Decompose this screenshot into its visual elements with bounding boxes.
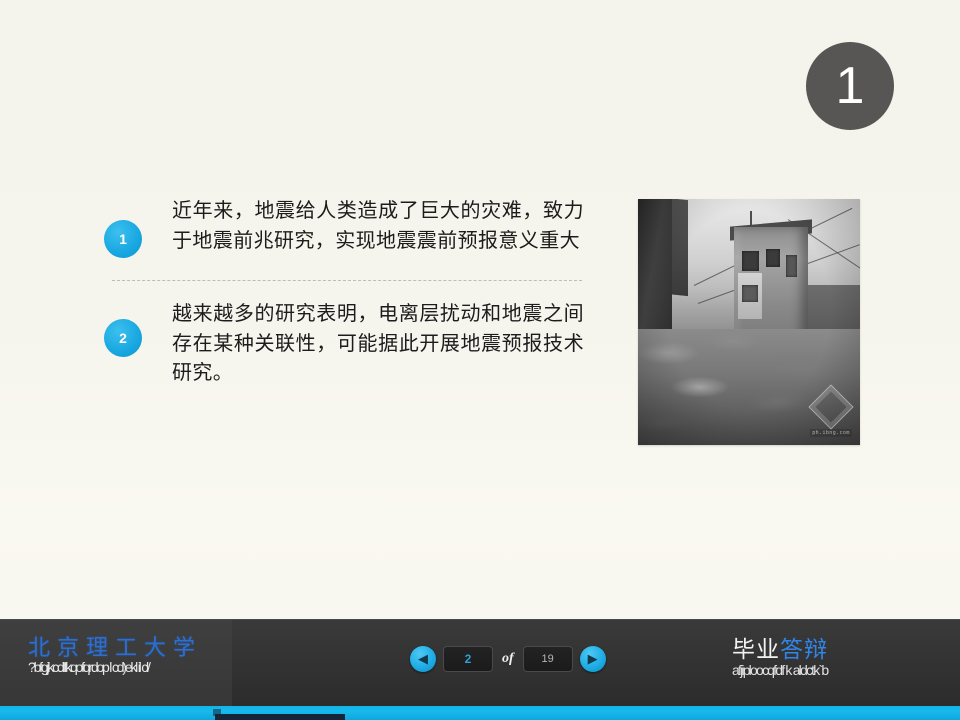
university-name-cn: 北京理工大学 (28, 630, 238, 662)
university-name-en: ?bfgjkcdlfkqofqrdop l cd)ekl il cl/ (28, 659, 238, 675)
current-slide-box[interactable]: 2 (443, 646, 493, 672)
photo-scene: ph.ibng.com (638, 199, 860, 445)
watermark-diamond-icon (808, 384, 853, 429)
event-title: 毕业答辩 afjiploocqfdf k aldctk`b (732, 630, 892, 678)
photo-watermark: ph.ibng.com (808, 389, 854, 437)
chapter-number-badge: 1 (806, 42, 894, 130)
watermark-text: ph.ibng.com (810, 429, 852, 437)
total-slides-box: 19 (523, 646, 573, 672)
total-slide-number: 19 (542, 653, 554, 665)
bullet-text-2: 越来越多的研究表明，电离层扰动和地震之间存在某种关联性，可能据此开展地震预报技术… (172, 299, 584, 388)
bullet-divider (112, 280, 582, 281)
presentation-slide: 研究背景 1 1 近年来，地震给人类造成了巨大的灾难，致力于地震前兆研究，实现地… (0, 0, 960, 720)
bullet-marker-2: 2 (104, 319, 142, 357)
event-title-cn-blue: 答辩 (780, 637, 828, 663)
bullet-text-1: 近年来，地震给人类造成了巨大的灾难，致力于地震前兆研究，实现地震震前预报意义重大 (172, 196, 584, 255)
bullet-list: 1 近年来，地震给人类造成了巨大的灾难，致力于地震前兆研究，实现地震震前预报意义… (104, 196, 584, 388)
chapter-number-text: 1 (836, 60, 865, 112)
slide-progress-bar[interactable] (0, 706, 960, 720)
slide-pager: ◀ 2 of 19 ▶ (410, 646, 606, 672)
pager-of-label: of (500, 651, 516, 667)
list-item: 1 近年来，地震给人类造成了巨大的灾难，致力于地震前兆研究，实现地震震前预报意义… (104, 196, 584, 258)
event-title-cn: 毕业答辩 (732, 630, 892, 664)
bullet-marker-1: 1 (104, 220, 142, 258)
earthquake-photo: ph.ibng.com (638, 199, 860, 445)
university-brand: 北京理工大学 ?bfgjkcdlfkqofqrdop l cd)ekl il c… (28, 630, 238, 675)
next-slide-button[interactable]: ▶ (580, 646, 606, 672)
section-ribbon: 研究背景 (0, 0, 300, 208)
progress-fill (215, 714, 345, 720)
event-title-en: afjiploocqfdf k aldctk`b (732, 662, 892, 678)
section-ribbon-band: 研究背景 (0, 0, 217, 45)
prev-slide-button[interactable]: ◀ (410, 646, 436, 672)
current-slide-number: 2 (465, 652, 472, 666)
list-item: 2 越来越多的研究表明，电离层扰动和地震之间存在某种关联性，可能据此开展地震预报… (104, 299, 584, 388)
event-title-cn-white: 毕业 (732, 637, 780, 663)
